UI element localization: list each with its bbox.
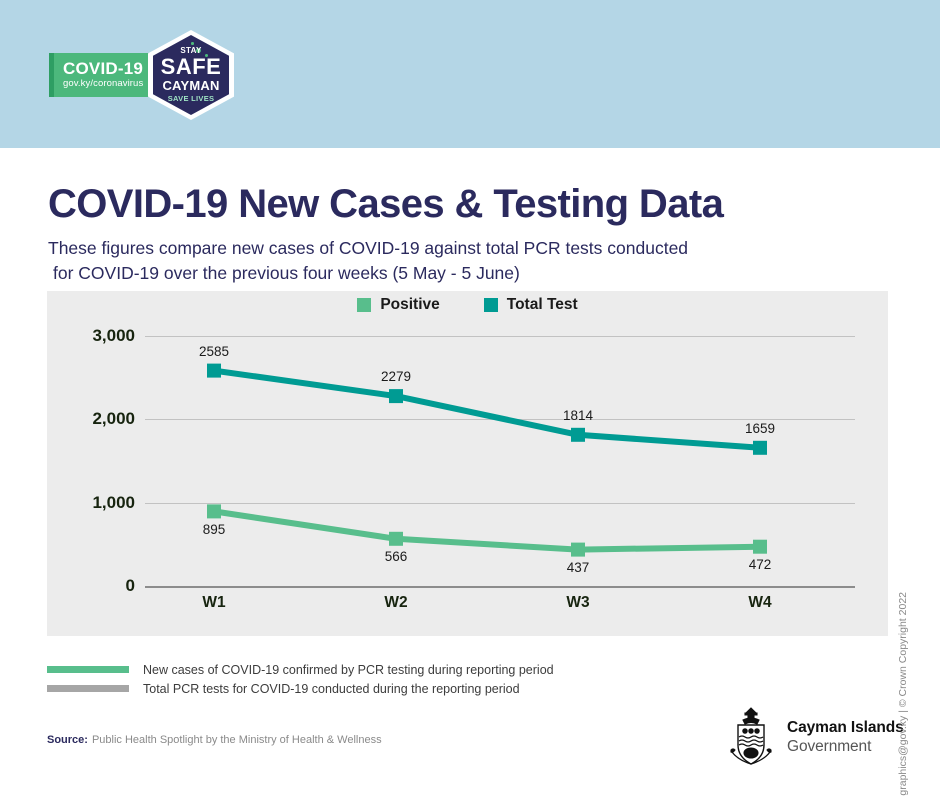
footer-key-bar-total-tests — [47, 685, 129, 692]
subtitle-line-1: These figures compare new cases of COVID… — [48, 238, 688, 258]
line-positive — [214, 511, 760, 549]
xtick-label-w4: W4 — [720, 594, 800, 612]
badge-line-save-lives: SAVE LIVES — [168, 95, 215, 103]
footer-key-row-new-cases: New cases of COVID-19 confirmed by PCR t… — [47, 660, 667, 679]
marker-total-test-w3 — [571, 428, 585, 442]
xtick-label-w2: W2 — [356, 594, 436, 612]
footer-key-bar-new-cases — [47, 666, 129, 673]
marker-total-test-w2 — [389, 389, 403, 403]
header-band: COVID-19 gov.ky/coronavirus STAY SAFE CA… — [0, 0, 940, 148]
value-label-positive-w3: 437 — [567, 560, 590, 575]
page-subtitle: These figures compare new cases of COVID… — [48, 236, 848, 286]
chart-panel: Positive Total Test 3,000 2,000 1,000 0 — [47, 291, 888, 636]
marker-positive-w4 — [753, 540, 767, 554]
value-label-positive-w4: 472 — [749, 557, 772, 572]
chart-series-svg — [47, 291, 888, 636]
value-label-positive-w1: 895 — [203, 522, 226, 537]
marker-positive-w2 — [389, 532, 403, 546]
xtick-label-w1: W1 — [174, 594, 254, 612]
page-title: COVID-19 New Cases & Testing Data — [48, 182, 723, 227]
line-total-test — [214, 371, 760, 448]
value-label-positive-w2: 566 — [385, 549, 408, 564]
cayman-crest-icon — [726, 706, 776, 768]
source-line: Source:Public Health Spotlight by the Mi… — [47, 734, 382, 746]
cig-line-2: Government — [787, 739, 904, 755]
marker-positive-w3 — [571, 543, 585, 557]
cayman-islands-government-logo: Cayman Islands Government — [726, 706, 904, 768]
badge-line-safe: SAFE — [161, 56, 222, 78]
value-label-total-test-w2: 2279 — [381, 369, 411, 384]
cig-line-1: Cayman Islands — [787, 720, 904, 736]
marker-total-test-w1 — [207, 364, 221, 378]
value-label-total-test-w3: 1814 — [563, 408, 593, 423]
badge-line-cayman: CAYMAN — [162, 79, 219, 92]
badge-text-block: STAY SAFE CAYMAN SAVE LIVES — [148, 30, 234, 120]
xtick-label-w3: W3 — [538, 594, 618, 612]
cig-wordmark: Cayman Islands Government — [787, 720, 904, 754]
footer-key-text-total-tests: Total PCR tests for COVID-19 conducted d… — [143, 682, 520, 696]
vertical-copyright-credit: graphics@gov.ky | © Crown Copyright 2022 — [897, 592, 909, 796]
stay-safe-cayman-badge: STAY SAFE CAYMAN SAVE LIVES — [148, 30, 234, 120]
source-text: Public Health Spotlight by the Ministry … — [92, 734, 382, 746]
value-label-total-test-w4: 1659 — [745, 421, 775, 436]
value-label-total-test-w1: 2585 — [199, 344, 229, 359]
plot-area: 3,000 2,000 1,000 0 2585 2279 1814 1659 — [47, 291, 888, 636]
marker-total-test-w4 — [753, 441, 767, 455]
footer-key-text-new-cases: New cases of COVID-19 confirmed by PCR t… — [143, 663, 554, 677]
footer-key: New cases of COVID-19 confirmed by PCR t… — [47, 660, 667, 698]
footer-key-row-total-tests: Total PCR tests for COVID-19 conducted d… — [47, 679, 667, 698]
marker-positive-w1 — [207, 504, 221, 518]
source-label: Source: — [47, 734, 88, 746]
subtitle-line-2: for COVID-19 over the previous four week… — [48, 261, 848, 286]
